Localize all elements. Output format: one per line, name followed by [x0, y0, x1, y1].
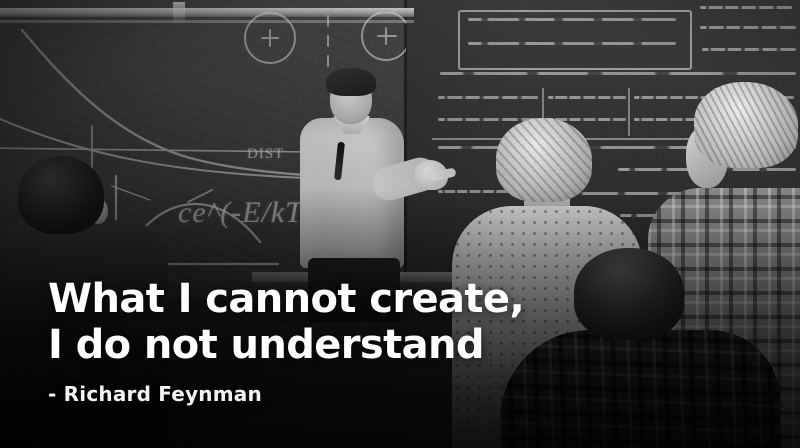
- board-note-sigma3: [548, 96, 626, 109]
- student-foreground-hair: [574, 248, 684, 340]
- quote-attribution: - Richard Feynman: [48, 382, 524, 406]
- quote-line-1: What I cannot create,: [48, 276, 524, 322]
- student-right-hair: [694, 82, 798, 168]
- quote-block: What I cannot create, I do not understan…: [48, 276, 524, 406]
- board-note-top-right: [700, 6, 792, 19]
- student-center-hair: [496, 118, 592, 202]
- student-left-hair: [18, 156, 104, 234]
- student-foreground-plaid-shirt: [500, 330, 780, 448]
- board-note-any-state: [438, 190, 508, 203]
- circle-diagram-plus-drawing: [236, 12, 406, 72]
- equation-line-1: [468, 18, 676, 31]
- board-note-means: [438, 96, 538, 109]
- lecturer-hair: [326, 68, 376, 96]
- quote-card: DIST ce^(-E/kT): [0, 0, 800, 448]
- board-note-bracket: [702, 48, 796, 61]
- quote-line-2: I do not understand: [48, 322, 524, 368]
- board-divider-2: [628, 88, 630, 136]
- board-note-matrix-equation: [700, 26, 796, 39]
- equation-line-2: [468, 42, 676, 55]
